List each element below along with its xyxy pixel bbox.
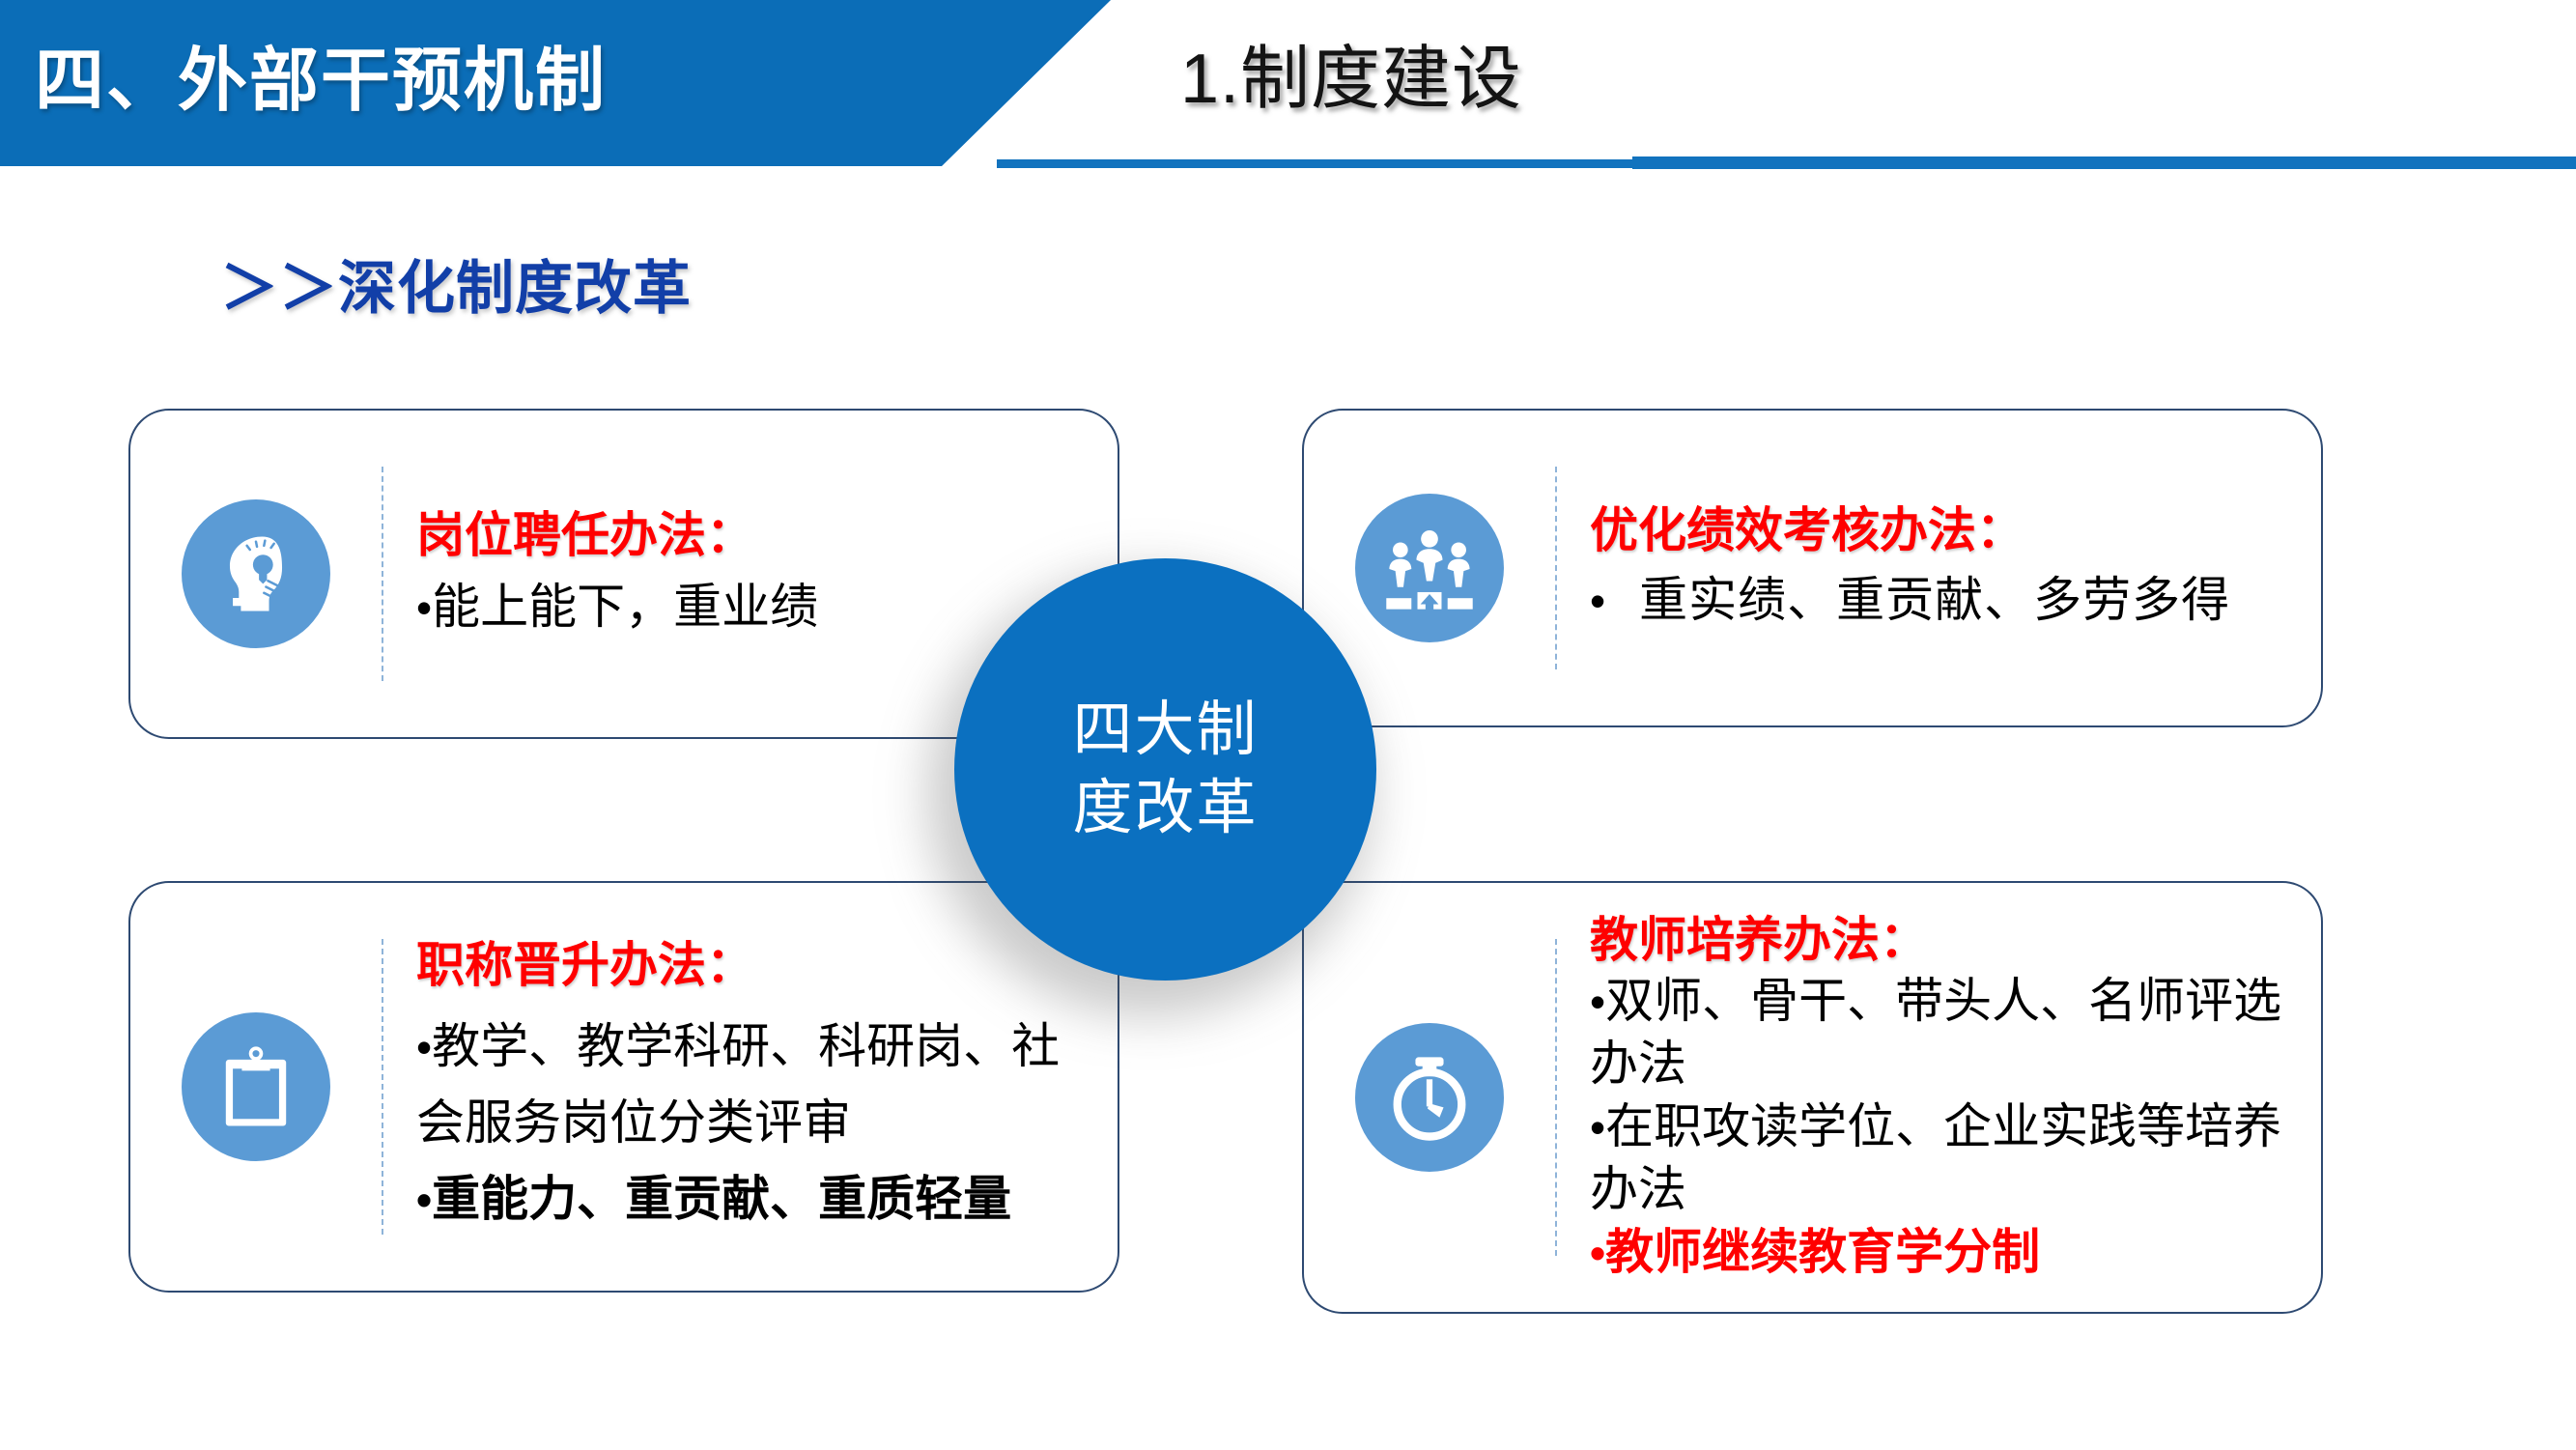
bullet-marker: • xyxy=(416,1175,432,1225)
card-heading: 岗位聘任办法： xyxy=(416,507,1092,563)
bullet-marker: • xyxy=(416,1022,432,1072)
card-bullet: •重能力、重贡献、重质轻量 xyxy=(416,1161,1092,1237)
card-bullet: •双师、骨干、带头人、名师评选办法 xyxy=(1590,970,2296,1095)
clipboard-person-icon xyxy=(182,1012,330,1161)
card-text: 岗位聘任办法： •能上能下，重业绩 xyxy=(383,507,1118,641)
card-bullet: •重实绩、重贡献、多劳多得 xyxy=(1590,566,2296,635)
head-idea-icon xyxy=(182,499,330,648)
section-subtitle: ＞＞深化制度改革 xyxy=(220,242,692,326)
icon-wrap xyxy=(1304,494,1555,642)
bullet-marker: • xyxy=(1590,1228,1605,1278)
icon-wrap xyxy=(130,1012,382,1161)
icon-wrap xyxy=(130,499,382,648)
bullet-text: 教师继续教育学分制 xyxy=(1605,1225,2040,1279)
bullet-text: 教学、教学科研、科研岗、社会服务岗位分类评审 xyxy=(416,1019,1060,1150)
header-section-title: 四、外部干预机制 xyxy=(35,23,607,125)
slide-canvas: 四、外部干预机制 1.制度建设 ＞＞深化制度改革 xyxy=(0,0,2576,1450)
card-bullet: •教学、教学科研、科研岗、社会服务岗位分类评审 xyxy=(416,1009,1092,1161)
bullet-text: 双师、骨干、带头人、名师评选办法 xyxy=(1590,974,2281,1091)
stopwatch-icon xyxy=(1355,1023,1504,1172)
icon-wrap xyxy=(1304,1023,1555,1172)
header-subsection-title: 1.制度建设 xyxy=(1180,21,1522,123)
card-teacher-training[interactable]: 教师培养办法： •双师、骨干、带头人、名师评选办法 •在职攻读学位、企业实践等培… xyxy=(1302,881,2323,1314)
bullet-marker: • xyxy=(1590,576,1606,626)
card-text: 教师培养办法： •双师、骨干、带头人、名师评选办法 •在职攻读学位、企业实践等培… xyxy=(1557,912,2321,1284)
podium-people-icon xyxy=(1355,494,1504,642)
header-rule-thick xyxy=(1632,156,2576,169)
bullet-marker: • xyxy=(1590,977,1605,1027)
bullet-text: 在职攻读学位、企业实践等培养办法 xyxy=(1590,1099,2281,1216)
bullet-text: 能上能下，重业绩 xyxy=(432,580,818,634)
card-title-promotion[interactable]: 职称晋升办法： •教学、教学科研、科研岗、社会服务岗位分类评审 •重能力、重贡献… xyxy=(128,881,1119,1293)
card-heading: 优化绩效考核办法： xyxy=(1590,502,2296,558)
card-bullet: •能上能下，重业绩 xyxy=(416,573,1092,641)
card-text: 优化绩效考核办法： •重实绩、重贡献、多劳多得 xyxy=(1557,502,2321,635)
bullet-text: 重能力、重贡献、重质轻量 xyxy=(432,1172,1011,1226)
bullet-text: 重实绩、重贡献、多劳多得 xyxy=(1639,573,2230,627)
center-hub-circle[interactable]: 四大制 度改革 xyxy=(954,558,1376,981)
card-performance-review[interactable]: 优化绩效考核办法： •重实绩、重贡献、多劳多得 xyxy=(1302,409,2323,727)
center-hub-label: 四大制 度改革 xyxy=(1072,692,1258,847)
card-text: 职称晋升办法： •教学、教学科研、科研岗、社会服务岗位分类评审 •重能力、重贡献… xyxy=(383,937,1118,1237)
card-bullet: •教师继续教育学分制 xyxy=(1590,1221,2296,1284)
card-bullet: •在职攻读学位、企业实践等培养办法 xyxy=(1590,1095,2296,1221)
card-heading: 教师培养办法： xyxy=(1590,912,2296,968)
bullet-marker: • xyxy=(1590,1102,1605,1152)
bullet-marker: • xyxy=(416,583,432,633)
header-rule-thin xyxy=(997,159,1646,168)
